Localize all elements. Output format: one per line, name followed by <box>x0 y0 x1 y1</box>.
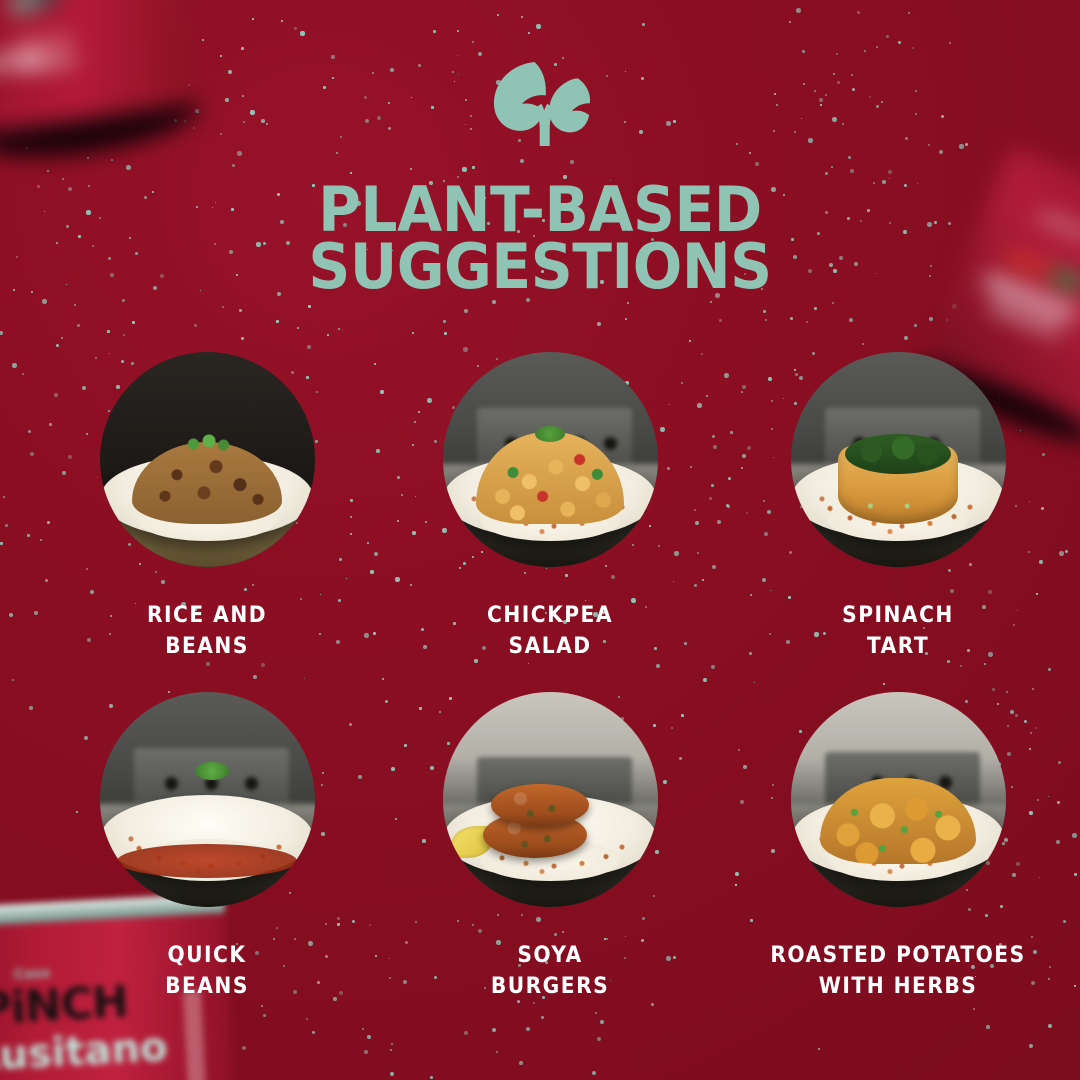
dish-label: RICE AND BEANS <box>69 600 345 662</box>
dish-label-line-1: SPINACH <box>760 600 1036 631</box>
dish-label-line-1: SOYA <box>412 940 688 971</box>
dish-label: QUICK BEANS <box>69 940 345 1002</box>
dish-label-line-2: SALAD <box>412 631 688 662</box>
dish-label: CHICKPEA SALAD <box>412 600 688 662</box>
chickpea-salad-photo <box>443 352 658 567</box>
dish-label-line-1: QUICK <box>69 940 345 971</box>
dish-card-soya-burgers[interactable]: SOYA BURGERS <box>400 692 700 1002</box>
dish-label-line-2: BURGERS <box>412 971 688 1002</box>
dish-label: SOYA BURGERS <box>412 940 688 1002</box>
dish-card-roasted-potatoes[interactable]: ROASTED POTATOES WITH HERBS <box>748 692 1048 1002</box>
dish-label: ROASTED POTATOES WITH HERBS <box>760 940 1036 1002</box>
title-line-2: SUGGESTIONS <box>32 238 1047 295</box>
dish-label-line-1: RICE AND <box>69 600 345 631</box>
plant-leaf-icon <box>474 137 606 154</box>
dish-row-2: QUICK BEANS <box>0 692 1080 1032</box>
roasted-potatoes-photo <box>791 692 1006 907</box>
dish-label-line-2: BEANS <box>69 631 345 662</box>
dish-label-line-2: WITH HERBS <box>760 971 1036 1002</box>
poster-canvas: THE Casa PiNCH Lusitano PLANT-BASED SUGG… <box>0 0 1080 1080</box>
dish-label-line-1: CHICKPEA <box>412 600 688 631</box>
soya-burgers-photo <box>443 692 658 907</box>
spinach-tart-photo <box>791 352 1006 567</box>
dish-card-chickpea-salad[interactable]: CHICKPEA SALAD <box>400 352 700 662</box>
dish-label-line-2: TART <box>760 631 1036 662</box>
dish-card-spinach-tart[interactable]: SPINACH TART <box>748 352 1048 662</box>
dish-card-rice-and-beans[interactable]: RICE AND BEANS <box>57 352 357 662</box>
dish-label-line-2: BEANS <box>69 971 345 1002</box>
dish-label-line-1: ROASTED POTATOES <box>760 940 1036 971</box>
can-subtitle-text: Lusitano <box>0 1024 169 1080</box>
rice-and-beans-photo <box>100 352 315 567</box>
quick-beans-photo <box>100 692 315 907</box>
page-title: PLANT-BASED SUGGESTIONS <box>32 181 1047 295</box>
dish-grid: RICE AND BEANS C <box>0 352 1080 1032</box>
dish-row-1: RICE AND BEANS C <box>0 352 1080 692</box>
dish-card-quick-beans[interactable]: QUICK BEANS <box>57 692 357 1002</box>
poster-header: PLANT-BASED SUGGESTIONS <box>0 58 1080 295</box>
dish-label: SPINACH TART <box>760 600 1036 662</box>
